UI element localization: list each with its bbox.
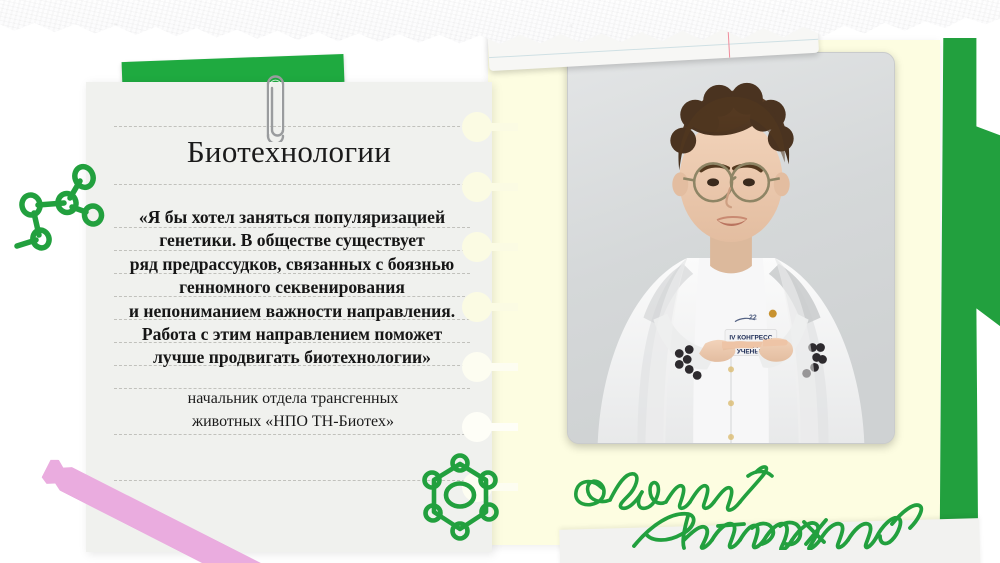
torn-paper-strip xyxy=(0,0,1000,44)
binder-notch xyxy=(462,412,522,442)
slide-canvas: Биотехнологии «Я бы хотел заняться попул… xyxy=(0,0,1000,563)
binder-notch xyxy=(462,292,522,322)
binder-notch xyxy=(462,172,522,202)
card-quote: «Я бы хотел заняться популяризацией гене… xyxy=(110,206,474,370)
speaker-photo: IV КОНГРЕСС МОЛОДЫХ УЧЕНЫХ 22 xyxy=(567,52,895,444)
card-role: начальник отдела трансгенных животных «Н… xyxy=(120,388,466,433)
binder-notch xyxy=(462,112,522,142)
molecule-icon xyxy=(14,163,108,257)
signature xyxy=(548,450,928,550)
binder-notch xyxy=(462,232,522,262)
hexagon-molecule-icon xyxy=(414,452,506,544)
paperclip-icon xyxy=(258,64,292,142)
binder-notch xyxy=(462,352,522,382)
